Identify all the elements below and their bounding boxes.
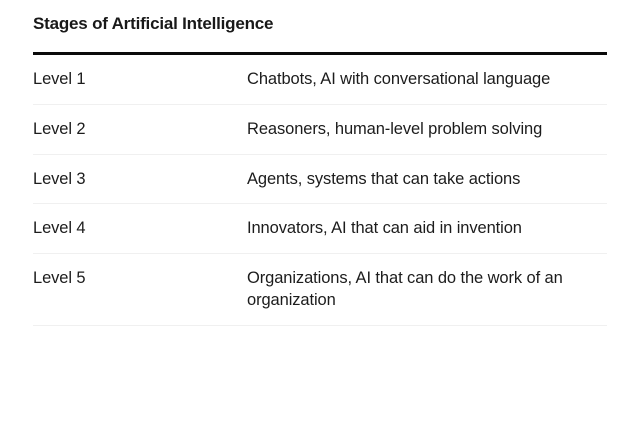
row-description: Agents, systems that can take actions — [247, 154, 607, 204]
stages-of-ai-figure: Stages of Artificial Intelligence Level … — [0, 0, 640, 436]
row-description: Innovators, AI that can aid in invention — [247, 204, 607, 254]
row-description: Reasoners, human-level problem solving — [247, 104, 607, 154]
table-row: Level 4 Innovators, AI that can aid in i… — [33, 204, 607, 254]
table-body: Level 1 Chatbots, AI with conversational… — [33, 55, 607, 325]
row-level-label: Level 5 — [33, 254, 247, 326]
table-row: Level 2 Reasoners, human-level problem s… — [33, 104, 607, 154]
page-title: Stages of Artificial Intelligence — [33, 0, 283, 35]
stages-table: Level 1 Chatbots, AI with conversational… — [33, 55, 607, 326]
table-row: Level 3 Agents, systems that can take ac… — [33, 154, 607, 204]
row-level-label: Level 1 — [33, 55, 247, 104]
row-description: Organizations, AI that can do the work o… — [247, 254, 607, 326]
row-level-label: Level 2 — [33, 104, 247, 154]
table-row: Level 1 Chatbots, AI with conversational… — [33, 55, 607, 104]
table-row: Level 5 Organizations, AI that can do th… — [33, 254, 607, 326]
row-description: Chatbots, AI with conversational languag… — [247, 55, 607, 104]
row-level-label: Level 4 — [33, 204, 247, 254]
row-level-label: Level 3 — [33, 154, 247, 204]
